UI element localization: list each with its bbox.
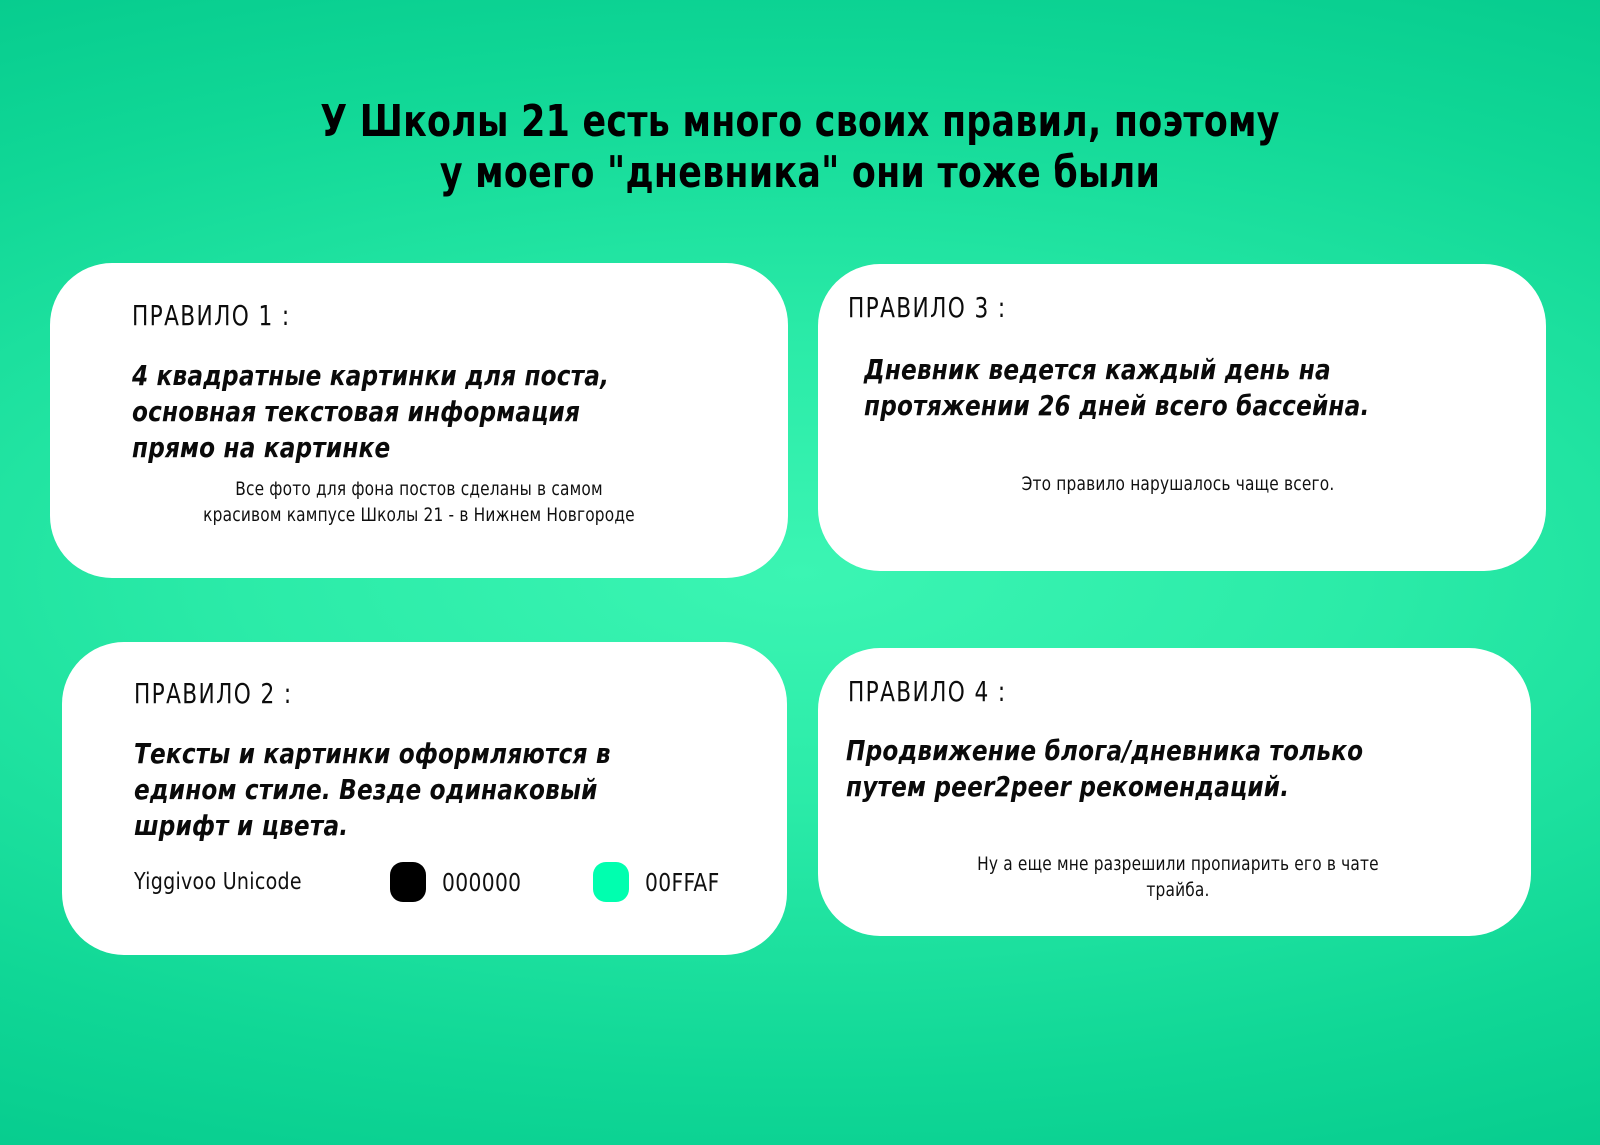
rule-card-1: ПРАВИЛО 1 : 4 квадратные картинки для по… bbox=[50, 263, 788, 578]
black-swatch-hex: 000000 bbox=[442, 868, 521, 897]
rule-1-text: 4 квадратные картинки для поста, основна… bbox=[132, 358, 721, 465]
rule-2-label: ПРАВИЛО 2 : bbox=[134, 677, 293, 710]
rule-3-label: ПРАВИЛО 3 : bbox=[848, 291, 1007, 324]
rule-4-note: Ну а еще мне разрешили пропиарить его в … bbox=[881, 851, 1475, 903]
rule-card-2: ПРАВИЛО 2 : Тексты и картинки оформляютс… bbox=[62, 642, 787, 955]
page-title: У Школы 21 есть много своих правил, поэт… bbox=[96, 96, 1504, 198]
rule-3-text: Дневник ведется каждый день на протяжени… bbox=[864, 352, 1471, 424]
slide-canvas: У Школы 21 есть много своих правил, поэт… bbox=[0, 0, 1600, 1145]
rule-1-note: Все фото для фона постов сделаны в самом… bbox=[119, 476, 718, 528]
rule-3-note: Это правило нарушалось чаще всего. bbox=[881, 471, 1475, 497]
black-swatch-group: 000000 bbox=[390, 862, 530, 902]
rule-4-text: Продвижение блога/дневника только путем … bbox=[846, 733, 1453, 805]
green-swatch-hex: 00FFAF bbox=[645, 868, 720, 897]
green-swatch-group: 00FFAF bbox=[593, 862, 728, 902]
rule-2-text: Тексты и картинки оформляются в едином с… bbox=[134, 736, 704, 843]
rule-card-4: ПРАВИЛО 4 : Продвижение блога/дневника т… bbox=[818, 648, 1531, 936]
black-swatch-icon bbox=[390, 862, 426, 902]
rule-card-3: ПРАВИЛО 3 : Дневник ведется каждый день … bbox=[818, 264, 1546, 571]
green-swatch-icon bbox=[593, 862, 629, 902]
font-name-label: Yiggivoo Unicode bbox=[134, 869, 302, 895]
style-guide-strip: Yiggivoo Unicode 000000 00FFAF bbox=[134, 860, 734, 904]
rule-4-label: ПРАВИЛО 4 : bbox=[848, 675, 1007, 708]
rule-1-label: ПРАВИЛО 1 : bbox=[132, 299, 291, 332]
